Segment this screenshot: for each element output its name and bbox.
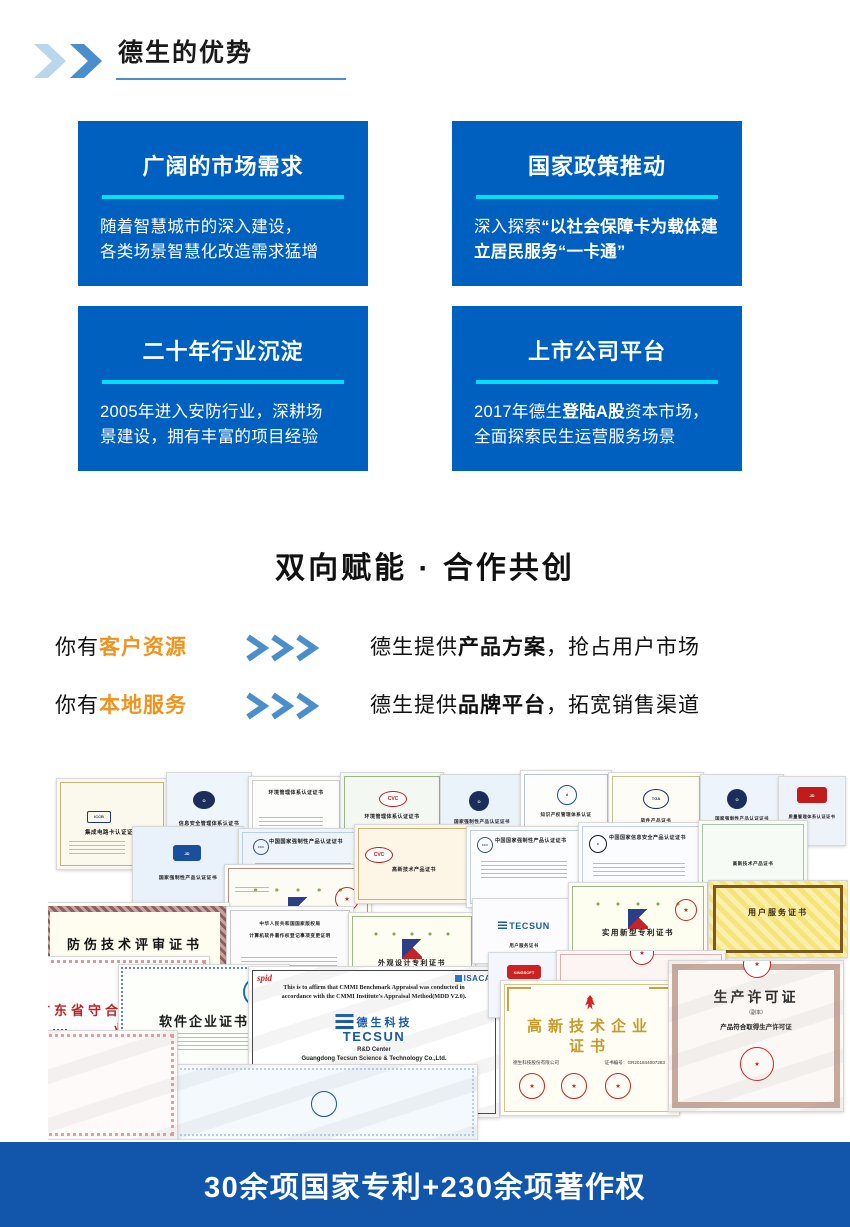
oeko-logo-icon: O xyxy=(193,791,215,809)
iccb-logo-icon: ICCB xyxy=(87,811,111,823)
cmmi-statement-line1: This is to affirm that CMMI Benchmark Ap… xyxy=(255,983,493,992)
card-body-suffix: 资本市场， xyxy=(625,403,709,421)
official-seal-icon xyxy=(605,1073,631,1099)
synergy-left-highlight: 本地服务 xyxy=(99,694,187,717)
synergy-right-bold: 产品方案 xyxy=(458,636,546,659)
card-body-line1: 2017年德生登陆A股资本市场， xyxy=(474,400,720,425)
synergy-left-prefix: 你有 xyxy=(55,694,99,717)
certificate-thumbnail xyxy=(48,1030,178,1140)
certificate-statement: 产品符合取得生产许可证 xyxy=(669,1021,843,1031)
synergy-right-suffix: ，拓宽销售渠道 xyxy=(546,694,700,717)
card-body-line1: 2005年进入安防行业，深耕场 xyxy=(100,400,346,425)
certificate-thumbnail: CCC 中国国家强制性产品认证证书 xyxy=(466,826,584,908)
footer-banner-text: 30余项国家专利+230余项著作权 xyxy=(204,1164,646,1206)
certificate-title: 环境管理体系认证证书 xyxy=(249,789,343,796)
certificate-title: 防伤技术评审证书 xyxy=(48,934,229,953)
certificate-text-lines xyxy=(69,841,125,857)
synergy-left-prefix: 你有 xyxy=(55,636,99,659)
certificate-title: 质量管理体系认证证书 xyxy=(779,814,845,820)
certificate-text-lines xyxy=(593,863,685,879)
certificate-utility-patent: 实用新型专利证书 xyxy=(568,882,708,956)
card-title: 上市公司平台 xyxy=(474,334,720,366)
oeko-logo-icon: O xyxy=(727,789,747,809)
spid-logo-icon: spid xyxy=(257,973,272,983)
synergy-right-bold: 品牌平台 xyxy=(458,694,546,717)
certificate-subtitle: （副本） xyxy=(669,1009,843,1016)
advantage-card-industry-experience: 二十年行业沉淀 2005年进入安防行业，深耕场 景建设，拥有丰富的项目经验 xyxy=(78,306,368,471)
card-body-quote2: “一卡通” xyxy=(558,243,626,261)
certificate-hitech-enterprise: 高新技术企业 证书 德生科技股份有限公司 证书编号：GR201844007283 xyxy=(500,980,680,1116)
advantage-card-market-demand: 广阔的市场需求 随着智慧城市的深入建设， 各类场景智慧化改造需求猛增 xyxy=(78,121,368,286)
isccc-logo-icon: C xyxy=(589,835,607,853)
cvc-logo-icon: CVC xyxy=(379,791,407,807)
certificate-user-service: 用户服务证书 xyxy=(708,880,848,958)
brand-logo-icon: JD xyxy=(797,787,827,803)
certificate-production-license: 生产许可证 （副本） 产品符合取得生产许可证 xyxy=(668,960,844,1112)
card-body: 深入探索“以社会保障卡为载体建立居民服务“一卡通” xyxy=(474,215,720,265)
card-body: 随着智慧城市的深入建设， 各类场景智慧化改造需求猛增 xyxy=(100,215,346,265)
official-seal-icon xyxy=(740,1047,774,1081)
card-divider xyxy=(476,195,718,199)
ornament xyxy=(367,929,458,939)
card-divider xyxy=(102,380,344,384)
certificate-title: 高新技术产品证书 xyxy=(355,866,473,873)
cmmi-statement-line2: accordance with the CMMI Institute's App… xyxy=(255,992,493,1001)
advantage-card-national-policy: 国家政策推动 深入探索“以社会保障卡为载体建立居民服务“一卡通” xyxy=(452,121,742,286)
ccc-logo-icon: CCC xyxy=(253,839,269,855)
seal-logo-icon xyxy=(311,1091,337,1117)
synergy-right: 德生提供品牌平台，拓宽销售渠道 xyxy=(370,686,700,726)
certificate-thumbnail: CVC 高新技术产品证书 xyxy=(354,824,474,904)
footer-banner: 30余项国家专利+230余项著作权 xyxy=(0,1142,850,1227)
synergy-right: 德生提供产品方案，抢占用户市场 xyxy=(370,628,700,668)
synergy-left: 你有客户资源 xyxy=(55,628,187,668)
ccc-logo-icon: CCC xyxy=(477,837,493,853)
certificate-title: 用户服务证书 xyxy=(473,943,575,949)
cmmi-division: R&D Center xyxy=(249,1047,499,1053)
certificate-title: 中华人民共和国国家版权局 xyxy=(227,921,353,927)
synergy-heading: 双向赋能 · 合作共创 xyxy=(0,543,850,587)
card-divider xyxy=(476,380,718,384)
title-underline xyxy=(116,78,346,80)
triple-chevron-icon xyxy=(244,630,334,666)
brand-logo-icon: JD xyxy=(173,845,201,861)
kingsoft-logo-icon: KINGSOFT xyxy=(507,965,541,979)
certificate-title: 环境管理体系认证证书 xyxy=(341,813,443,820)
card-divider xyxy=(102,195,344,199)
certificate-text-lines xyxy=(481,861,567,881)
hitech-meta-left: 德生科技股份有限公司 xyxy=(513,1059,559,1067)
certificate-subtitle: 计算机软件著作权登记事项变更证明 xyxy=(227,933,353,939)
ornament-corner xyxy=(507,987,531,1011)
official-seal-icon xyxy=(519,1073,545,1099)
tecsun-logo: TECSUN xyxy=(473,921,575,931)
synergy-left-highlight: 客户资源 xyxy=(99,636,187,659)
card-title: 国家政策推动 xyxy=(474,149,720,181)
page-title: 德生的优势 xyxy=(118,32,253,74)
certificate-title-line2: 证书 xyxy=(501,1035,679,1056)
double-chevron-icon xyxy=(32,40,114,82)
synergy-rows: 你有客户资源 德生提供产品方案，抢占用户市场 你有本地服务 xyxy=(0,628,850,744)
certificate-title: 高新技术产品证书 xyxy=(699,861,807,867)
cvc-logo-icon: CVC xyxy=(365,847,393,863)
certificate-title-line1: 高新技术企业 xyxy=(501,1015,679,1036)
advantage-card-grid: 广阔的市场需求 随着智慧城市的深入建设， 各类场景智慧化改造需求猛增 国家政策推… xyxy=(0,121,850,471)
isaca-logo-icon: ISACA xyxy=(455,974,491,983)
synergy-left: 你有本地服务 xyxy=(55,686,187,726)
card-body-prefix: 深入探索 xyxy=(474,218,541,236)
cmmi-company-full: Guangdong Tecsun Science & Technology Co… xyxy=(249,1056,499,1062)
card-body: 2005年进入安防行业，深耕场 景建设，拥有丰富的项目经验 xyxy=(100,400,346,450)
advantage-card-listed-company: 上市公司平台 2017年德生登陆A股资本市场， 全面探索民生运营服务场景 xyxy=(452,306,742,471)
hitech-meta-right: 证书编号：GR201844007283 xyxy=(604,1059,665,1067)
certificate-title: 用户服务证书 xyxy=(709,907,847,918)
decorative-frame xyxy=(713,885,843,953)
card-body-line2: 全面探索民生运营服务场景 xyxy=(474,425,720,450)
synergy-row-local-service: 你有本地服务 德生提供品牌平台，拓宽销售渠道 xyxy=(0,686,850,744)
card-body-line2: 景建设，拥有丰富的项目经验 xyxy=(100,425,346,450)
tecsun-wordmark: TECSUN xyxy=(343,1029,405,1044)
ornament xyxy=(588,899,687,909)
oeko-logo-icon: O xyxy=(469,791,489,811)
card-body-prefix: 2017年德生 xyxy=(474,403,562,421)
synergy-right-prefix: 德生提供 xyxy=(370,636,458,659)
card-body: 2017年德生登陆A股资本市场， 全面探索民生运营服务场景 xyxy=(474,400,720,450)
iso-logo-icon: TGA xyxy=(643,789,669,809)
official-seal-icon xyxy=(675,899,697,921)
card-body-line1: 随着智慧城市的深入建设， xyxy=(100,215,346,240)
certificate-title: 知识产权管理体系认证 xyxy=(521,812,611,818)
chevron-right-icon-dark xyxy=(68,40,110,82)
certificate-title: 中国国家强制性产品认证证书 xyxy=(495,837,579,844)
card-title: 二十年行业沉淀 xyxy=(100,334,346,366)
tecsun-wordmark: TECSUN xyxy=(509,921,550,931)
certificate-title: 中国国家强制性产品认证证书 xyxy=(269,838,363,845)
triple-chevron-icon xyxy=(244,688,334,724)
ipmsa-logo-icon: d xyxy=(557,785,577,805)
page-header: 德生的优势 xyxy=(0,32,850,94)
cmmi-statement: This is to affirm that CMMI Benchmark Ap… xyxy=(255,983,493,1001)
card-body-line2: 各类场景智慧化改造需求猛增 xyxy=(100,240,346,265)
synergy-right-suffix: ，抢占用户市场 xyxy=(546,636,700,659)
synergy-row-customer-resource: 你有客户资源 德生提供产品方案，抢占用户市场 xyxy=(0,628,850,686)
certificate-title: 中国国家信息安全产品认证证书 xyxy=(609,834,701,841)
certificate-title: 生产许可证 xyxy=(669,987,843,1007)
cnipa-emblem-icon xyxy=(402,939,422,959)
certificate-collage: ICCB 集成电路卡认证证书 O 信息安全管理体系认证书 AICAS 环境管理体… xyxy=(48,768,848,1140)
tecsun-mark-icon xyxy=(498,921,507,930)
tecsun-company-cn: 德生科技 xyxy=(357,1014,413,1030)
card-body-bold: 登陆A股 xyxy=(562,403,625,421)
certificate-title: 实用新型专利证书 xyxy=(569,927,707,938)
card-title: 广阔的市场需求 xyxy=(100,149,346,181)
synergy-right-prefix: 德生提供 xyxy=(370,694,458,717)
certificate-text-lines xyxy=(235,887,269,895)
official-seal-icon xyxy=(561,1073,587,1099)
certificate-thumbnail xyxy=(168,1064,478,1140)
